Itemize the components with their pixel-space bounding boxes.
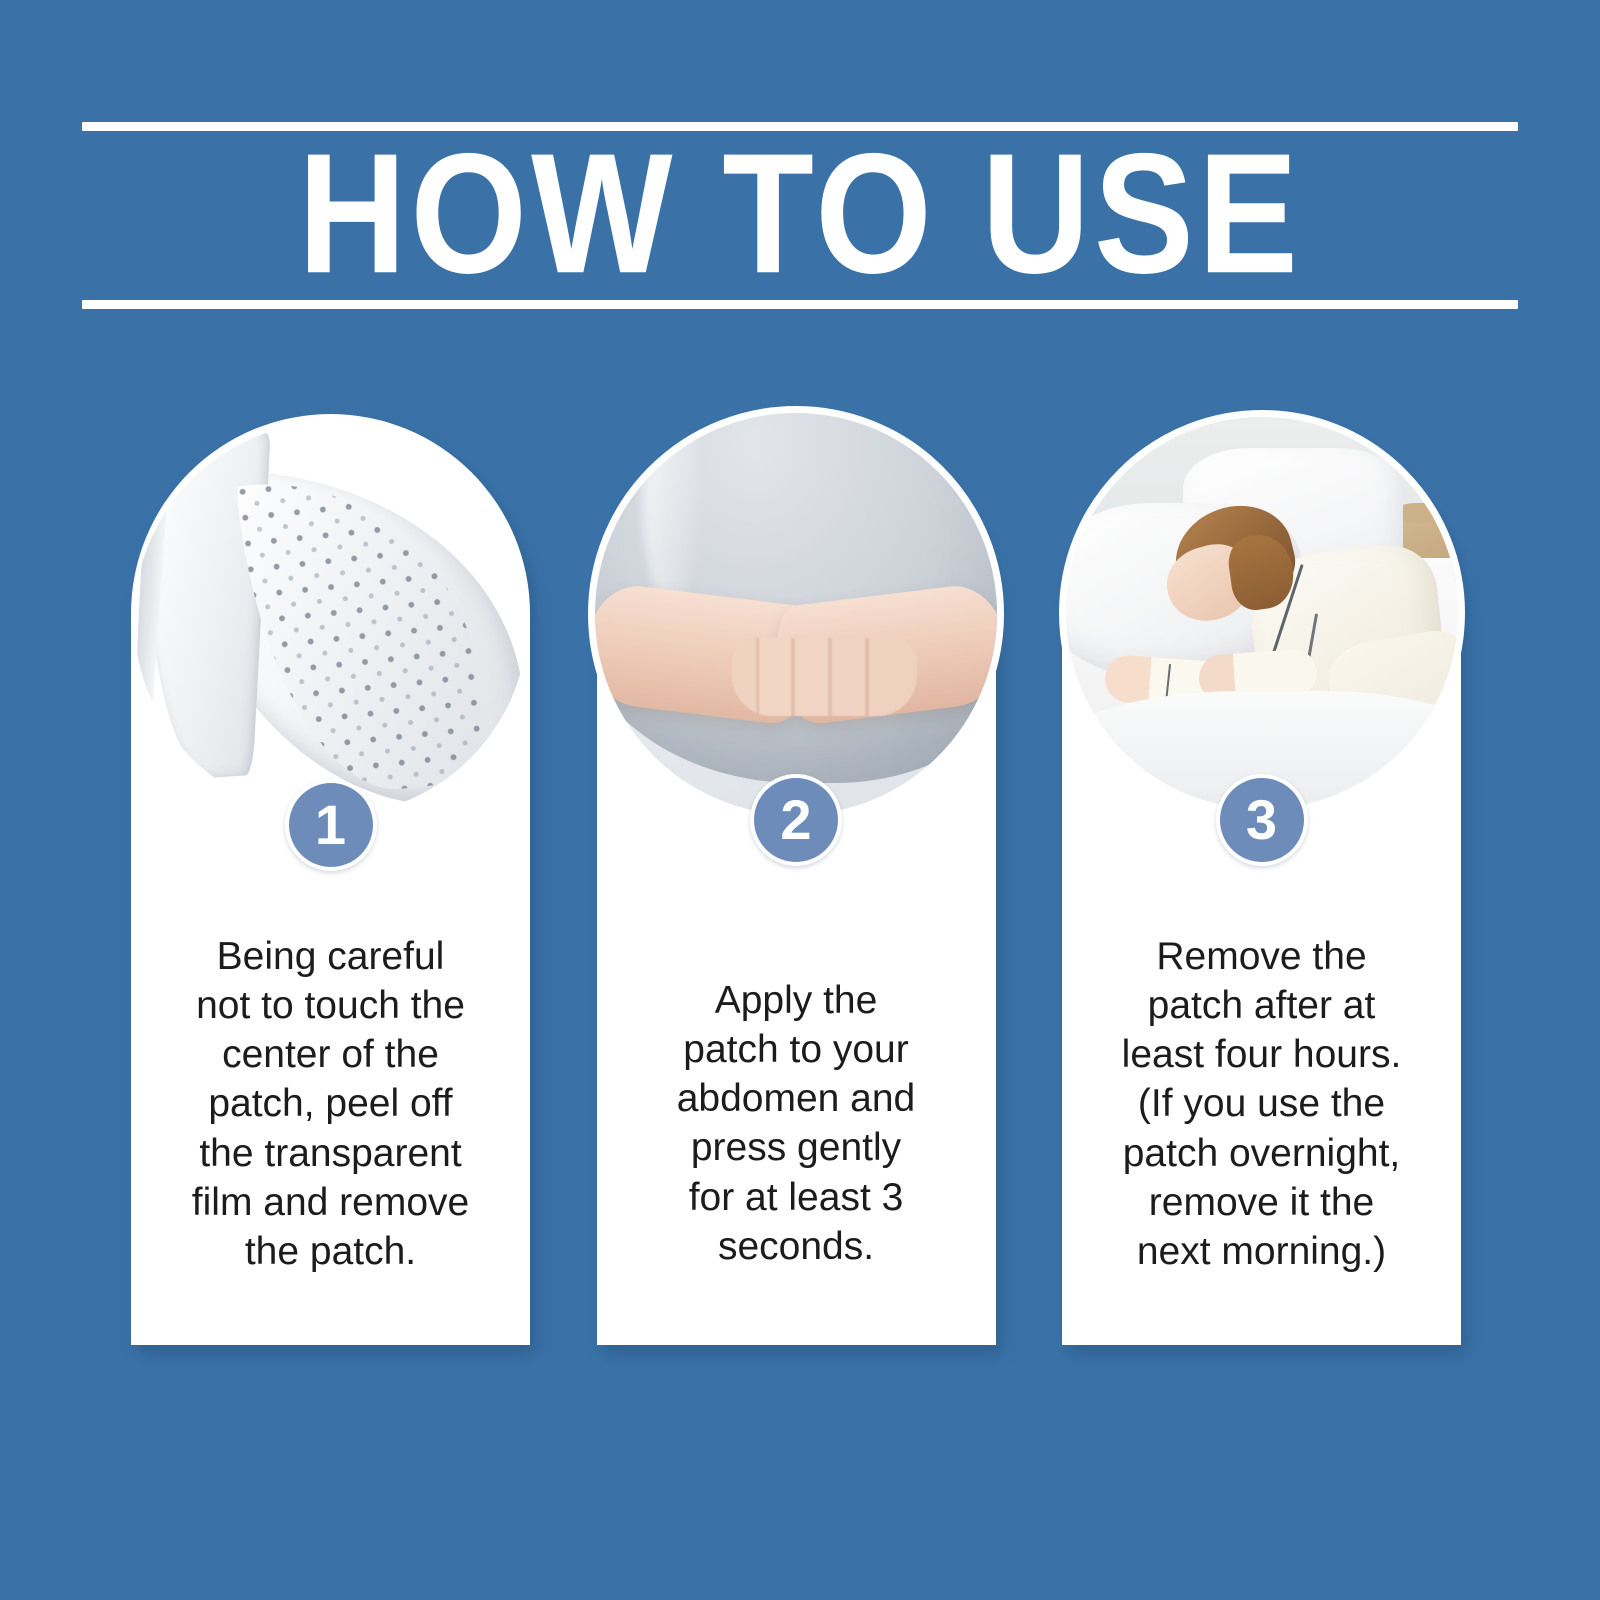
page-title: HOW TO USE — [82, 116, 1518, 310]
step-card-2[interactable]: 2 Apply the patch to your abdomen and pr… — [597, 414, 996, 1345]
steps-row: 1 Being careful not to touch the center … — [131, 414, 1461, 1349]
step-number-badge-2: 2 — [750, 774, 842, 866]
microneedle-patch-photo — [134, 422, 528, 816]
step-card-1[interactable]: 1 Being careful not to touch the center … — [131, 414, 530, 1345]
step-number-badge-3: 3 — [1216, 774, 1308, 866]
step-caption-3: Remove the patch after at least four hou… — [1062, 932, 1461, 1276]
step-card-3[interactable]: 3 Remove the patch after at least four h… — [1062, 414, 1461, 1345]
patch-scene — [134, 422, 528, 816]
step-caption-1: Being careful not to touch the center of… — [131, 932, 530, 1276]
bedroom-scene — [1066, 417, 1458, 809]
hands-on-abdomen-photo — [588, 406, 1004, 822]
title-rule-bottom — [82, 300, 1518, 309]
step-caption-2: Apply the patch to your abdomen and pres… — [597, 976, 996, 1271]
patch-needle-array — [235, 463, 489, 802]
step-number-badge-1: 1 — [285, 779, 377, 871]
shirt-fold-highlight — [643, 406, 699, 606]
nightstand-object — [1395, 503, 1450, 523]
abdomen-scene — [595, 413, 997, 815]
woman-sleeping-in-bed-photo — [1059, 410, 1465, 816]
header-title-block: HOW TO USE — [82, 110, 1518, 315]
interlocked-fingers-shape — [732, 638, 917, 716]
